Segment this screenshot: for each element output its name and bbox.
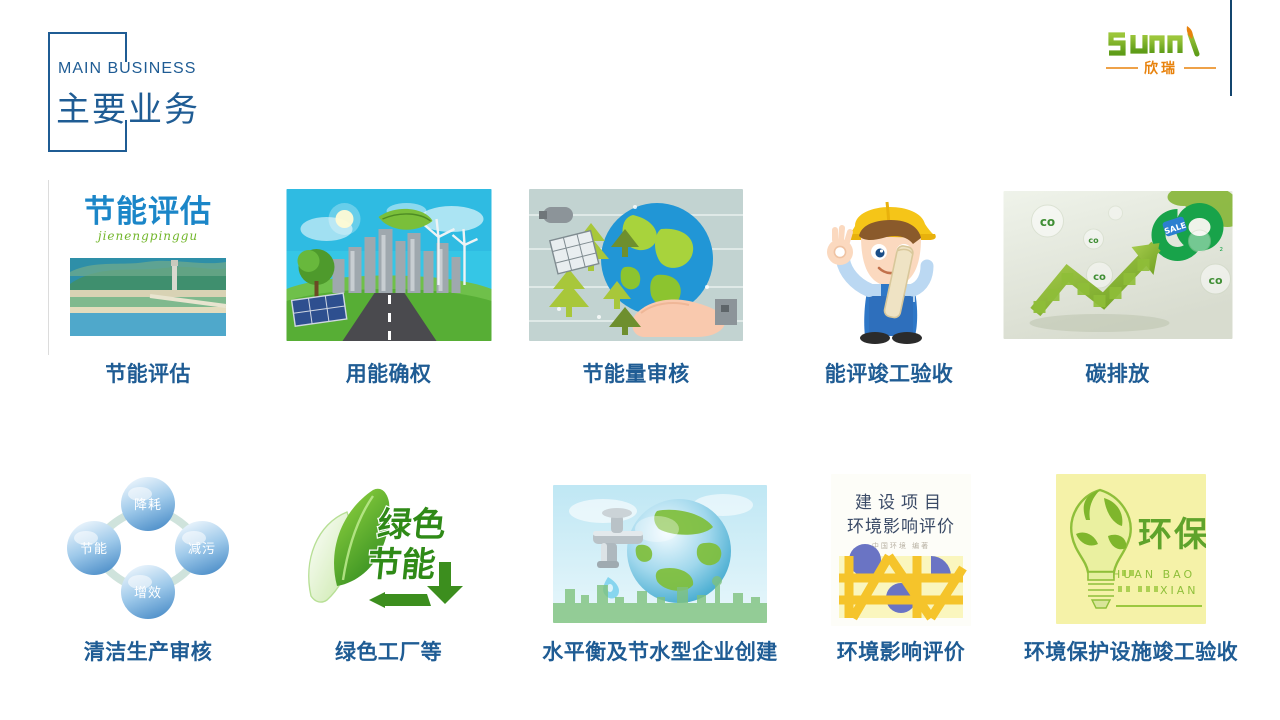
thumbnail-carbon-emission: SALE ₂ co co co co [1003,191,1232,339]
business-card-cleaner-production-audit[interactable]: 降耗 减污 增效 节能 清洁生产审核 [48,470,248,720]
svg-text:减污: 减污 [188,542,216,557]
thumbnail-eia: 建设项目 环境影响评价 中国环境 编著 [831,474,971,626]
business-card-grid: 节能评估 jienengpinggu [0,170,1280,720]
thumbnail-energy-assessment-acceptance [809,180,969,345]
card-label-1: 节能评估 [105,358,191,388]
business-row-1: 节能评估 jienengpinggu [0,180,1280,430]
svg-text:co: co [1039,215,1054,229]
svg-text:增效: 增效 [134,586,162,601]
header-divider-line [1230,0,1232,96]
svg-text:co: co [1088,236,1099,245]
thumbnail-energy-rights-confirmation [286,189,491,341]
svg-text:降耗: 降耗 [134,498,162,513]
business-card-carbon-emission[interactable]: SALE ₂ co co co co [1003,180,1232,430]
svg-text:建设项目: 建设项目 [855,493,947,513]
svg-text:XIAN: XIAN [1160,584,1199,597]
svg-text:co: co [1208,274,1223,287]
card-label-6: 清洁生产审核 [84,636,212,666]
thumbnail-green-factory: 绿色 节能 [299,474,479,624]
company-logo[interactable]: 欣瑞 [1102,24,1220,76]
thumbnail-energy-saving-assessment: 节能评估 jienengpinggu [54,180,242,345]
svg-text:绿色: 绿色 [375,505,447,545]
card-label-2: 用能确权 [346,358,432,388]
card-label-3: 节能量审核 [583,358,690,388]
thumbnail-water-balance [553,485,767,623]
business-card-energy-assessment-acceptance[interactable]: 能评竣工验收 [781,180,997,430]
svg-text:节能: 节能 [365,545,437,585]
card-label-9: 环境影响评价 [837,636,965,666]
svg-text:jienengpinggu: jienengpinggu [95,229,198,243]
card-label-8: 水平衡及节水型企业创建 [542,636,777,666]
title-frame-right-top-segment [125,32,127,62]
thumbnail-energy-saving-audit [529,189,743,341]
business-card-water-balance[interactable]: 水平衡及节水型企业创建 [520,470,800,720]
page-title-english: MAIN BUSINESS [58,60,196,78]
business-row-2: 降耗 减污 增效 节能 清洁生产审核 [0,470,1280,720]
card-label-7: 绿色工厂等 [335,636,442,666]
business-card-energy-saving-assessment[interactable]: 节能评估 jienengpinggu [48,180,248,430]
card-label-4: 能评竣工验收 [825,358,953,388]
thumbnail-cleaner-production-audit: 降耗 减污 增效 节能 [54,470,242,625]
card-label-10: 环境保护设施竣工验收 [1024,636,1238,666]
svg-text:环保先: 环保先 [1138,515,1206,555]
svg-text:环境影响评价: 环境影响评价 [847,517,955,537]
business-card-energy-rights-confirmation[interactable]: 用能确权 [286,180,491,430]
svg-text:节能: 节能 [80,542,108,557]
svg-text:节能评估: 节能评估 [84,194,212,230]
svg-text:₂: ₂ [1219,244,1223,254]
business-card-env-facility-acceptance[interactable]: 环保先 HUAN BAO XIAN 环境保护设施竣工验收 [1006,470,1256,720]
svg-text:欣瑞: 欣瑞 [1144,60,1178,76]
card-label-5: 碳排放 [1085,358,1149,388]
business-card-energy-saving-audit[interactable]: 节能量审核 [527,180,745,430]
page-title: 主要业务 [56,82,200,131]
slide-header: MAIN BUSINESS 主要业务 [0,0,1280,170]
business-card-green-factory[interactable]: 绿色 节能 绿色工厂等 [286,470,491,720]
svg-text:中国环境 编著: 中国环境 编著 [872,541,930,550]
business-card-eia[interactable]: 建设项目 环境影响评价 中国环境 编著 [806,470,996,720]
svg-text:co: co [1093,272,1106,283]
thumbnail-env-facility-acceptance: 环保先 HUAN BAO XIAN [1056,474,1206,624]
